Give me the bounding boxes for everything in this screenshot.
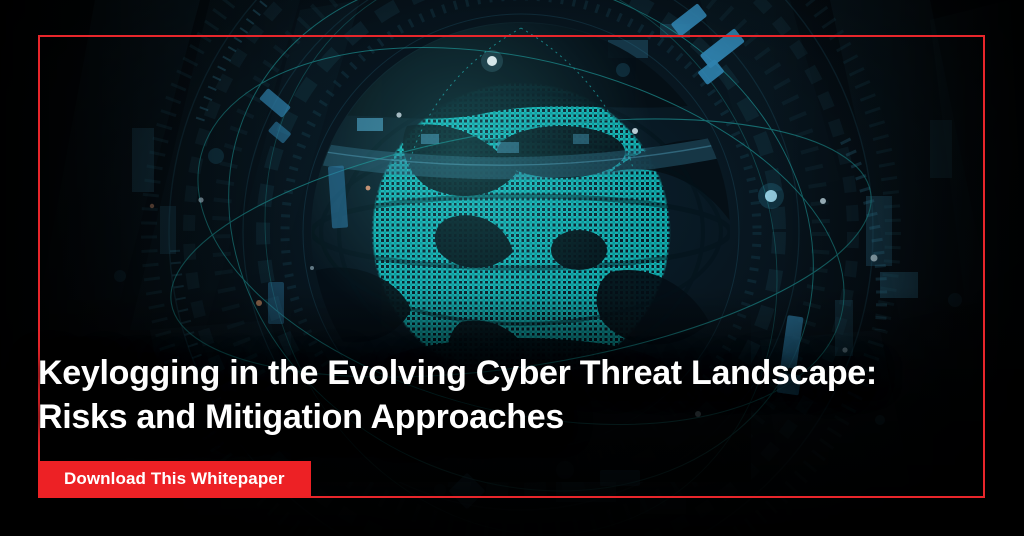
whitepaper-banner: Keylogging in the Evolving Cyber Threat … <box>0 0 1024 536</box>
page-title: Keylogging in the Evolving Cyber Threat … <box>38 351 878 439</box>
banner-content: Keylogging in the Evolving Cyber Threat … <box>38 351 918 498</box>
download-whitepaper-button[interactable]: Download This Whitepaper <box>38 461 311 498</box>
